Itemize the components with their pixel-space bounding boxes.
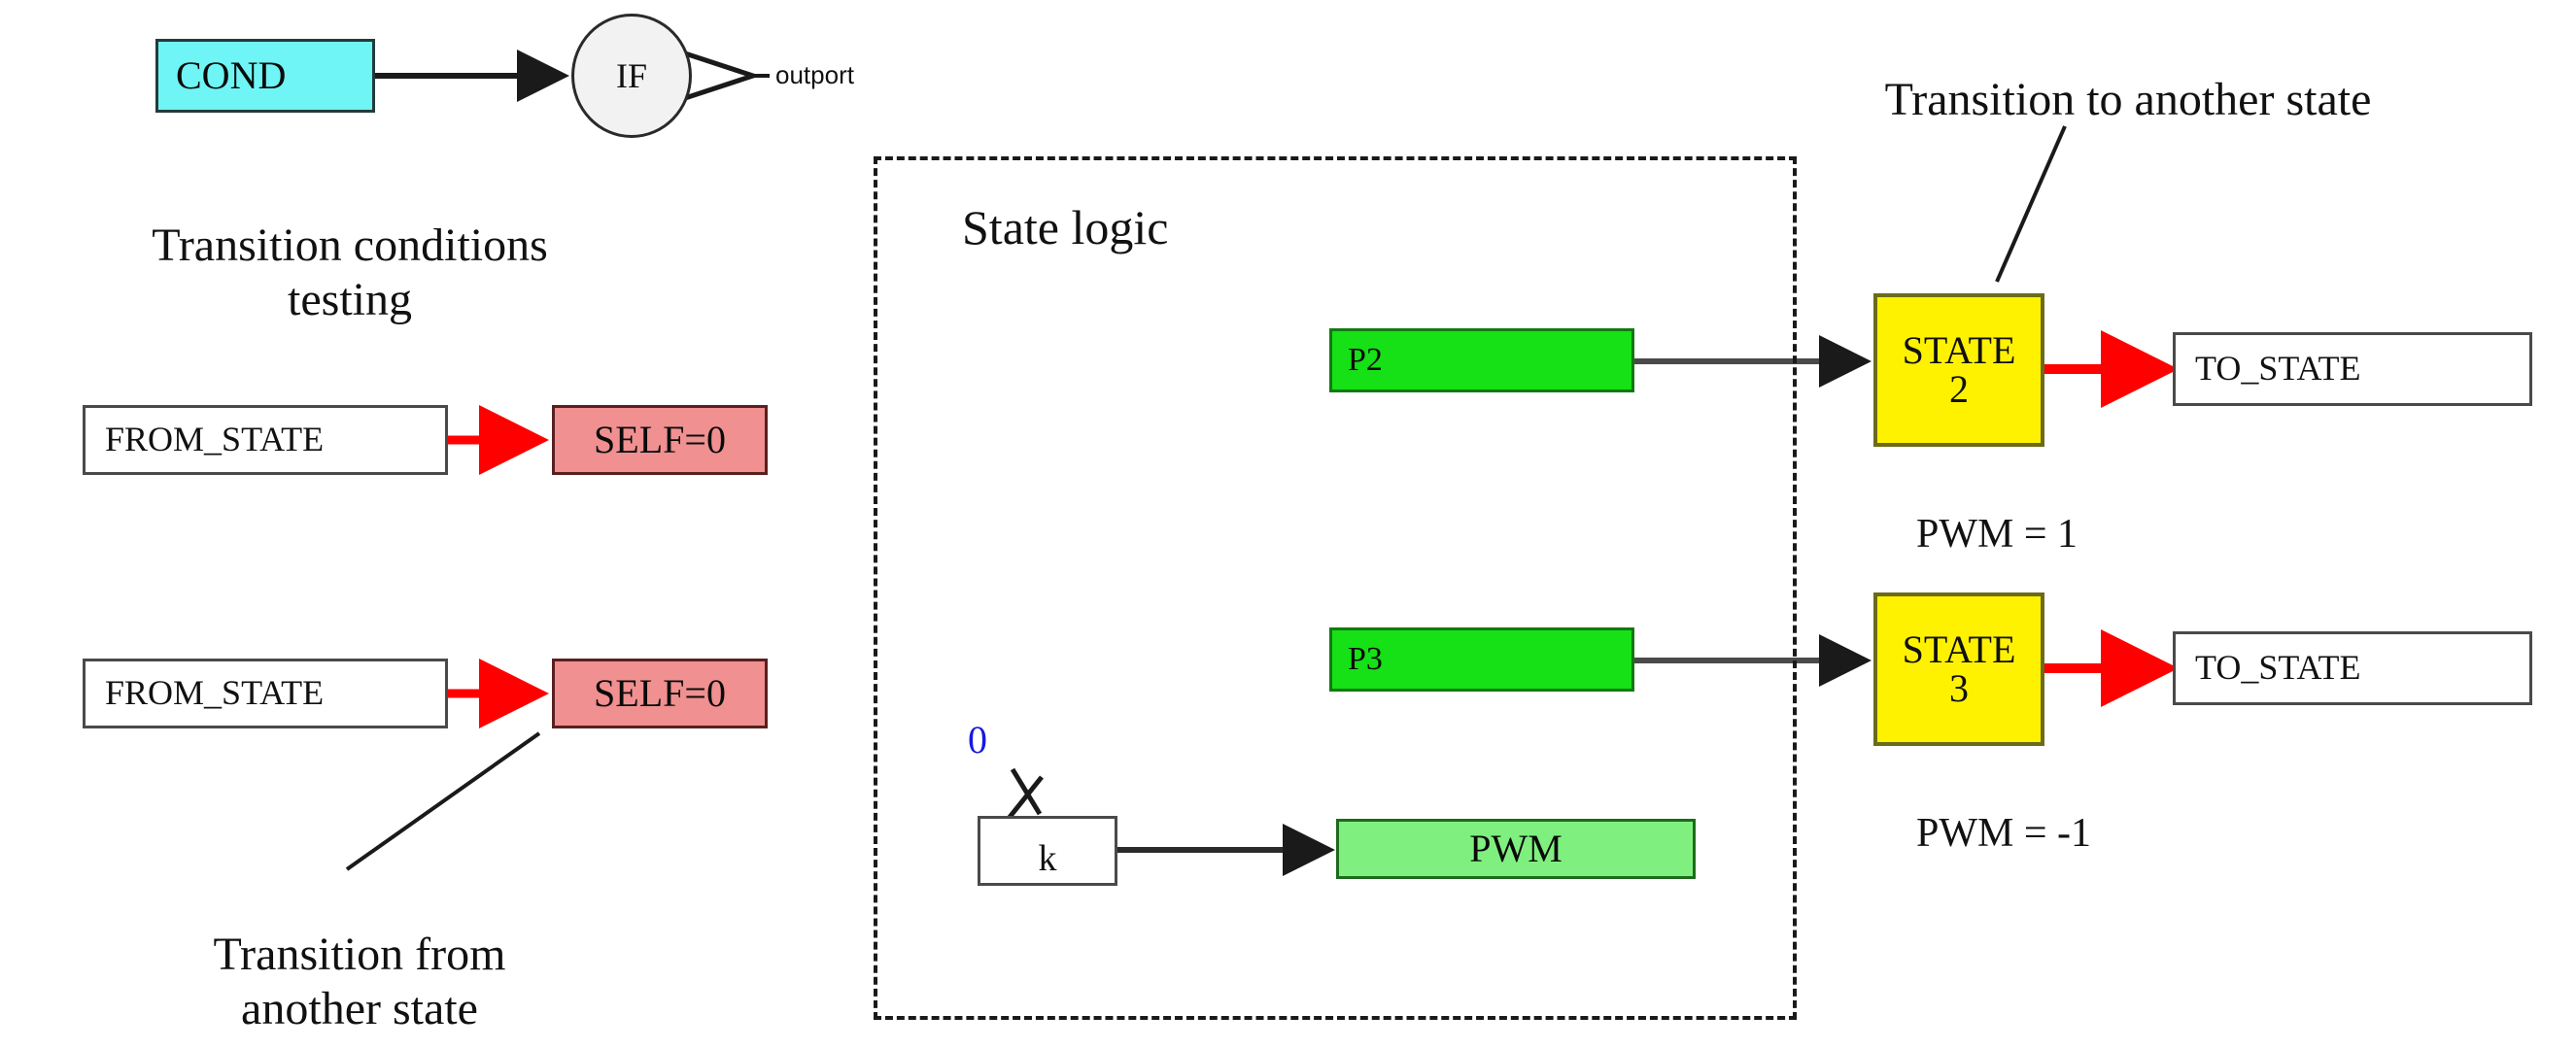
pwm-annotation-state3: PWM = -1 [1875, 763, 2091, 903]
state-block-2[interactable]: STATE 2 [1873, 293, 2044, 447]
self-zero-block-2[interactable]: SELF=0 [552, 659, 768, 728]
from-state-block-1[interactable]: FROM_STATE [83, 405, 448, 475]
outport-triangle-icon [685, 53, 753, 98]
state-block-2-label-line2: 2 [1949, 370, 1969, 409]
gain-block-label: k [1039, 840, 1057, 879]
gain-block-k[interactable]: k [978, 816, 1117, 886]
state-logic-group-box [874, 156, 1797, 1020]
to-state-block-1[interactable]: TO_STATE [2173, 332, 2532, 406]
self-zero-label-1: SELF=0 [594, 420, 726, 460]
to-state-label-2: TO_STATE [2195, 650, 2360, 687]
state-block-2-label-line1: STATE [1903, 331, 2016, 370]
caption-transition-to-another-state: Transition to another state [1691, 17, 2565, 127]
self-zero-block-1[interactable]: SELF=0 [552, 405, 768, 475]
to-state-block-2[interactable]: TO_STATE [2173, 631, 2532, 705]
pwm-output-block[interactable]: PWM [1336, 819, 1696, 879]
leader-line-transition-to [1997, 126, 2065, 282]
cond-block-label: COND [176, 55, 286, 96]
port-label-p2: P2 [1348, 343, 1383, 378]
outport-label: outport [775, 60, 854, 90]
pwm-output-label: PWM [1469, 829, 1563, 869]
caption-transition-from-another-state: Transition from another state [58, 872, 661, 1037]
port-label-p3: P3 [1348, 642, 1383, 677]
cond-block[interactable]: COND [155, 39, 375, 113]
if-block[interactable]: IF [571, 14, 692, 138]
diagram-canvas: COND IF outport Transition conditions te… [0, 0, 2576, 1049]
leader-line-transition-from [347, 733, 539, 869]
state-logic-group-label: State logic [962, 199, 1168, 255]
to-state-label-1: TO_STATE [2195, 351, 2360, 388]
from-state-block-2[interactable]: FROM_STATE [83, 659, 448, 728]
gain-value-label: 0 [968, 717, 987, 762]
caption-transition-conditions-testing: Transition conditions testing [19, 163, 680, 328]
self-zero-label-2: SELF=0 [594, 673, 726, 714]
from-state-label-1: FROM_STATE [105, 422, 324, 458]
state-block-3-label-line1: STATE [1903, 630, 2016, 669]
pwm-annotation-state2: PWM = 1 [1875, 464, 2078, 604]
from-state-label-2: FROM_STATE [105, 675, 324, 712]
state-block-3[interactable]: STATE 3 [1873, 592, 2044, 746]
port-block-p2[interactable]: P2 [1329, 328, 1634, 392]
if-block-label: IF [616, 55, 647, 96]
port-block-p3[interactable]: P3 [1329, 627, 1634, 692]
state-block-3-label-line2: 3 [1949, 669, 1969, 708]
